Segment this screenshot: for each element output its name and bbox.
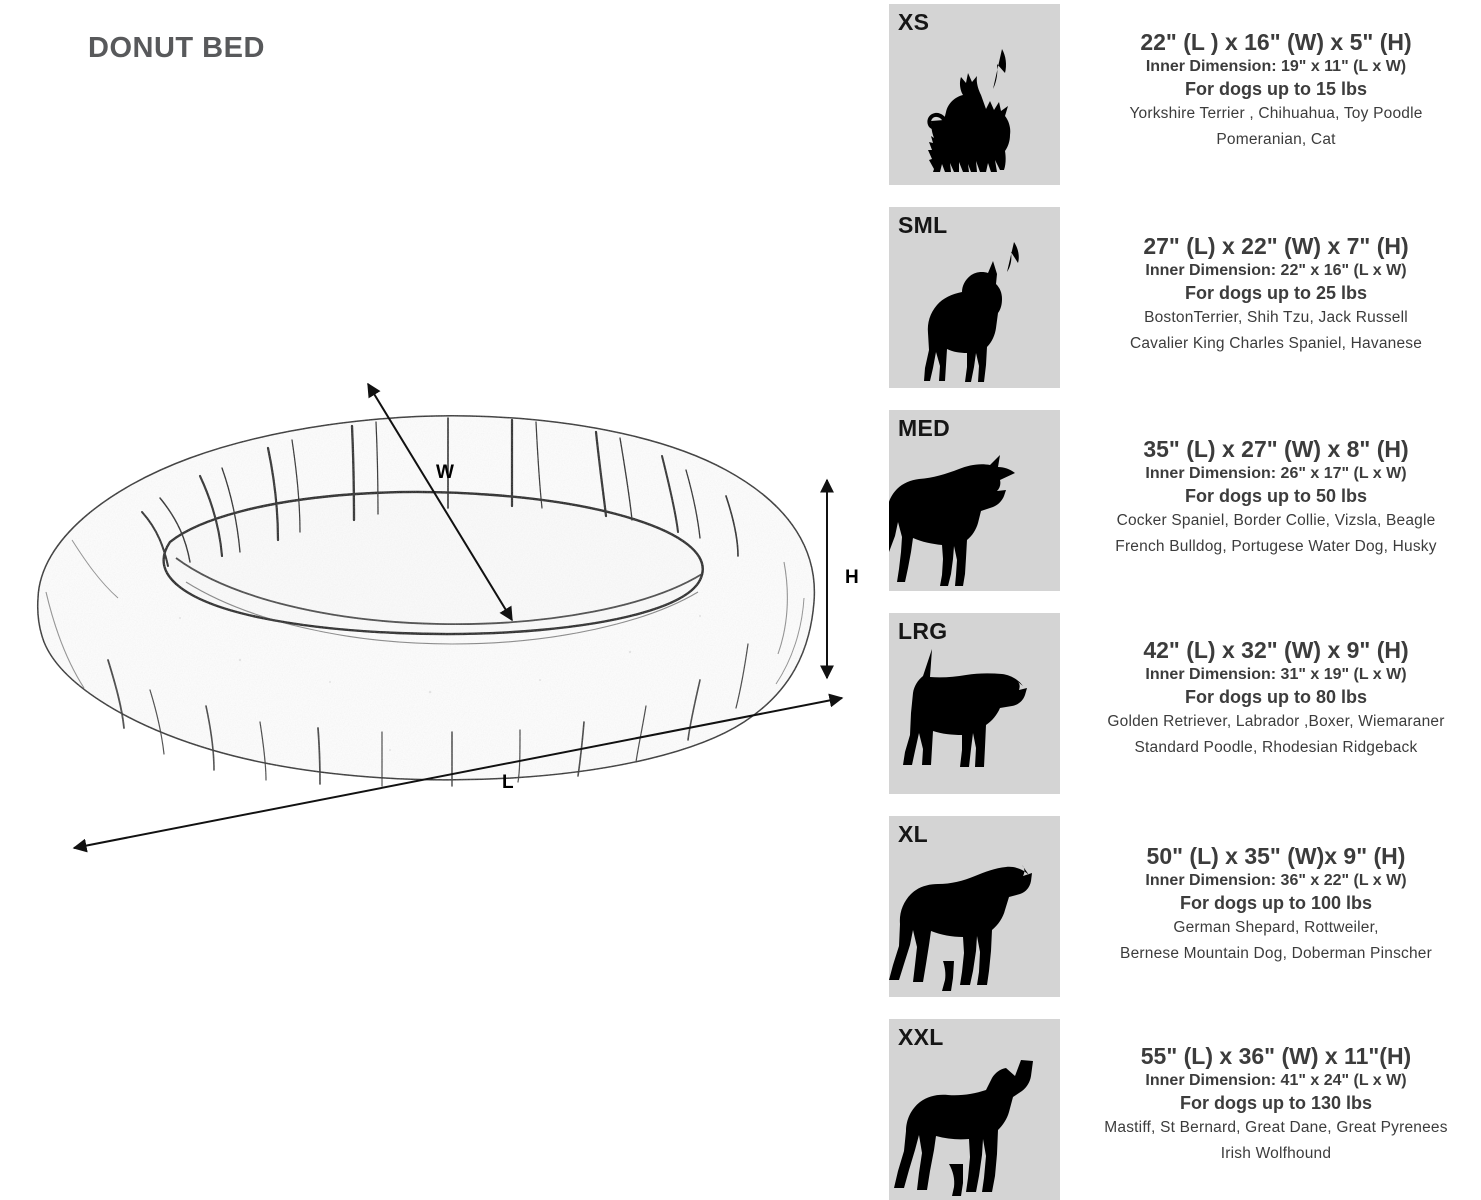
spec-block-sml: 27" (L) x 22" (W) x 7" (H) Inner Dimensi…	[1071, 232, 1481, 356]
inner-dimensions: Inner Dimension: 31" x 19" (L x W)	[1071, 664, 1481, 686]
breeds-line-2: Bernese Mountain Dog, Doberman Pinscher	[1071, 941, 1481, 967]
table-row: XXL 55" (L) x 36" (W) x 11"(H) Inner Dim…	[889, 1019, 1481, 1200]
breeds-line-1: Cocker Spaniel, Border Collie, Vizsla, B…	[1071, 508, 1481, 534]
weight-limit: For dogs up to 25 lbs	[1071, 282, 1481, 305]
table-row: LRG 42" (L) x 32" (W) x 9" (H) Inner Dim…	[889, 613, 1481, 794]
page-title: DONUT BED	[88, 32, 265, 65]
table-row: SML 27" (L) x 22" (W) x 7" (H) Inner Dim…	[889, 207, 1481, 388]
spec-block-xs: 22" (L ) x 16" (W) x 5" (H) Inner Dimens…	[1071, 28, 1481, 152]
weight-limit: For dogs up to 15 lbs	[1071, 78, 1481, 101]
size-swatch-lrg: LRG	[889, 613, 1060, 794]
breeds-line-1: Mastiff, St Bernard, Great Dane, Great P…	[1071, 1115, 1481, 1141]
breeds-line-1: Golden Retriever, Labrador ,Boxer, Wiema…	[1071, 709, 1481, 735]
outer-dimensions: 27" (L) x 22" (W) x 7" (H)	[1071, 232, 1481, 260]
table-row: MED 35" (L) x 27" (W) x 8" (H) Inner Dim…	[889, 410, 1481, 591]
size-swatch-xl: XL	[889, 816, 1060, 997]
inner-dimensions: Inner Dimension: 19" x 11" (L x W)	[1071, 56, 1481, 78]
spec-block-med: 35" (L) x 27" (W) x 8" (H) Inner Dimensi…	[1071, 435, 1481, 559]
breeds-line-1: BostonTerrier, Shih Tzu, Jack Russell	[1071, 305, 1481, 331]
inner-dimensions: Inner Dimension: 41" x 24" (L x W)	[1071, 1070, 1481, 1092]
dimension-arrows	[0, 330, 880, 890]
table-row: XL 50" (L) x 35" (W)x 9" (H) Inner Dimen…	[889, 816, 1481, 997]
yorkshire-terrier-silhouette	[889, 31, 1060, 181]
inner-dimensions: Inner Dimension: 26" x 17" (L x W)	[1071, 463, 1481, 485]
outer-dimensions: 35" (L) x 27" (W) x 8" (H)	[1071, 435, 1481, 463]
outer-dimensions: 42" (L) x 32" (W) x 9" (H)	[1071, 636, 1481, 664]
width-label: W	[436, 462, 454, 484]
size-chart-table: XS 22" (L ) x 16" (W) x 5" (H) Inner Dim…	[889, 0, 1481, 1200]
size-swatch-sml: SML	[889, 207, 1060, 388]
golden-retriever-silhouette	[889, 843, 1060, 993]
inner-dimensions: Inner Dimension: 22" x 16" (L x W)	[1071, 260, 1481, 282]
breeds-line-1: Yorkshire Terrier , Chihuahua, Toy Poodl…	[1071, 101, 1481, 127]
breeds-line-2: Standard Poodle, Rhodesian Ridgeback	[1071, 735, 1481, 761]
table-row: XS 22" (L ) x 16" (W) x 5" (H) Inner Dim…	[889, 4, 1481, 185]
inner-dimensions: Inner Dimension: 36" x 22" (L x W)	[1071, 870, 1481, 892]
boston-terrier-silhouette	[889, 234, 1060, 384]
breeds-line-1: German Shepard, Rottweiler,	[1071, 915, 1481, 941]
breeds-line-2: French Bulldog, Portugese Water Dog, Hus…	[1071, 534, 1481, 560]
length-label: L	[502, 772, 514, 794]
weight-limit: For dogs up to 100 lbs	[1071, 892, 1481, 915]
weight-limit: For dogs up to 130 lbs	[1071, 1092, 1481, 1115]
size-swatch-med: MED	[889, 410, 1060, 591]
spec-block-xl: 50" (L) x 35" (W)x 9" (H) Inner Dimensio…	[1071, 842, 1481, 966]
size-swatch-xxl: XXL	[889, 1019, 1060, 1200]
width-arrow	[368, 384, 512, 620]
outer-dimensions: 50" (L) x 35" (W)x 9" (H)	[1071, 842, 1481, 870]
spec-block-lrg: 42" (L) x 32" (W) x 9" (H) Inner Dimensi…	[1071, 636, 1481, 760]
border-collie-silhouette	[889, 437, 1060, 587]
height-label: H	[845, 567, 859, 589]
illustration-panel: DONUT BED	[0, 0, 880, 1200]
weight-limit: For dogs up to 50 lbs	[1071, 485, 1481, 508]
size-swatch-xs: XS	[889, 4, 1060, 185]
great-dane-silhouette	[889, 1046, 1060, 1196]
breeds-line-2: Pomeranian, Cat	[1071, 127, 1481, 153]
outer-dimensions: 22" (L ) x 16" (W) x 5" (H)	[1071, 28, 1481, 56]
breeds-line-2: Cavalier King Charles Spaniel, Havanese	[1071, 331, 1481, 357]
spec-block-xxl: 55" (L) x 36" (W) x 11"(H) Inner Dimensi…	[1071, 1042, 1481, 1166]
weight-limit: For dogs up to 80 lbs	[1071, 686, 1481, 709]
breeds-line-2: Irish Wolfhound	[1071, 1141, 1481, 1167]
labrador-silhouette	[889, 640, 1060, 790]
outer-dimensions: 55" (L) x 36" (W) x 11"(H)	[1071, 1042, 1481, 1070]
length-arrow	[74, 698, 842, 848]
